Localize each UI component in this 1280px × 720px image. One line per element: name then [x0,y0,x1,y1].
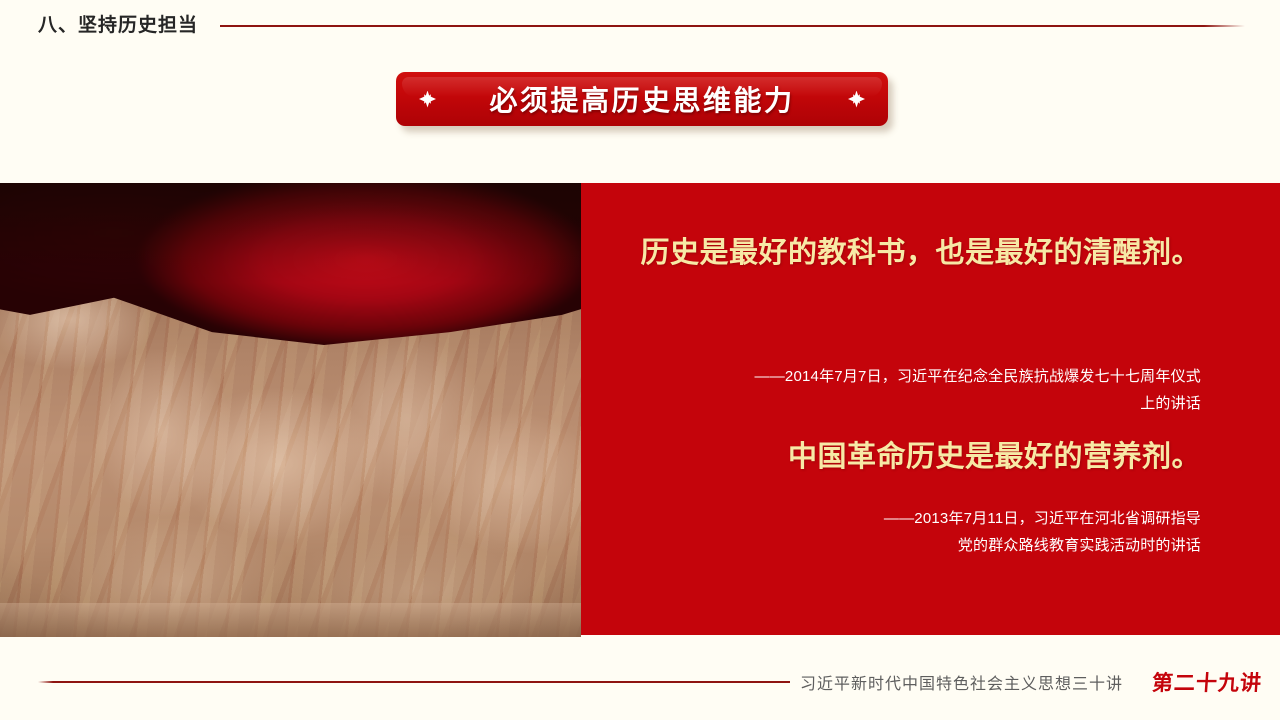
header-divider-line [220,25,1245,27]
quote-primary-attribution: ——2014年7月7日，习近平在纪念全民族抗战爆发七十七周年仪式 上的讲话 [633,363,1201,417]
quote-secondary-attribution: ——2013年7月11日，习近平在河北省调研指导 党的群众路线教育实践活动时的讲… [633,505,1201,559]
slide-footer: 习近平新时代中国特色社会主义思想三十讲 第二十九讲 [0,658,1280,720]
quote-panel-inner: 历史是最好的教科书，也是最好的清醒剂。 ——2014年7月7日，习近平在纪念全民… [633,183,1201,635]
monument-relief-photo [0,183,581,637]
section-header-label: 八、坚持历史担当 [38,10,198,37]
quote-primary-attribution-line1: ——2014年7月7日，习近平在纪念全民族抗战爆发七十七周年仪式 [633,363,1201,390]
quote-primary-text: 历史是最好的教科书，也是最好的清醒剂。 [633,225,1201,282]
quote-secondary-attribution-line2: 党的群众路线教育实践活动时的讲话 [633,532,1201,559]
content-row: 历史是最好的教科书，也是最好的清醒剂。 ——2014年7月7日，习近平在纪念全民… [0,183,1280,637]
footer-lecture-number: 第二十九讲 [1151,667,1263,697]
photo-vignette [0,183,581,637]
title-banner-plate: 必须提高历史思维能力 [396,72,888,126]
quote-primary-attribution-line2: 上的讲话 [633,390,1201,417]
quote-secondary-attribution-line1: ——2013年7月11日，习近平在河北省调研指导 [633,505,1201,532]
title-banner: 必须提高历史思维能力 [396,72,888,126]
quote-secondary-text: 中国革命历史是最好的营养剂。 [633,435,1201,479]
title-banner-text: 必须提高历史思维能力 [396,79,888,119]
quote-panel: 历史是最好的教科书，也是最好的清醒剂。 ——2014年7月7日，习近平在纪念全民… [581,183,1280,635]
footer-book-title: 习近平新时代中国特色社会主义思想三十讲 [800,670,1123,694]
footer-divider-line [38,681,790,683]
slide-root: 八、坚持历史担当 必须提高历史思维能力 历史是最好的教科书，也是最好的清醒剂。 … [0,0,1280,720]
section-header: 八、坚持历史担当 [0,0,1280,48]
